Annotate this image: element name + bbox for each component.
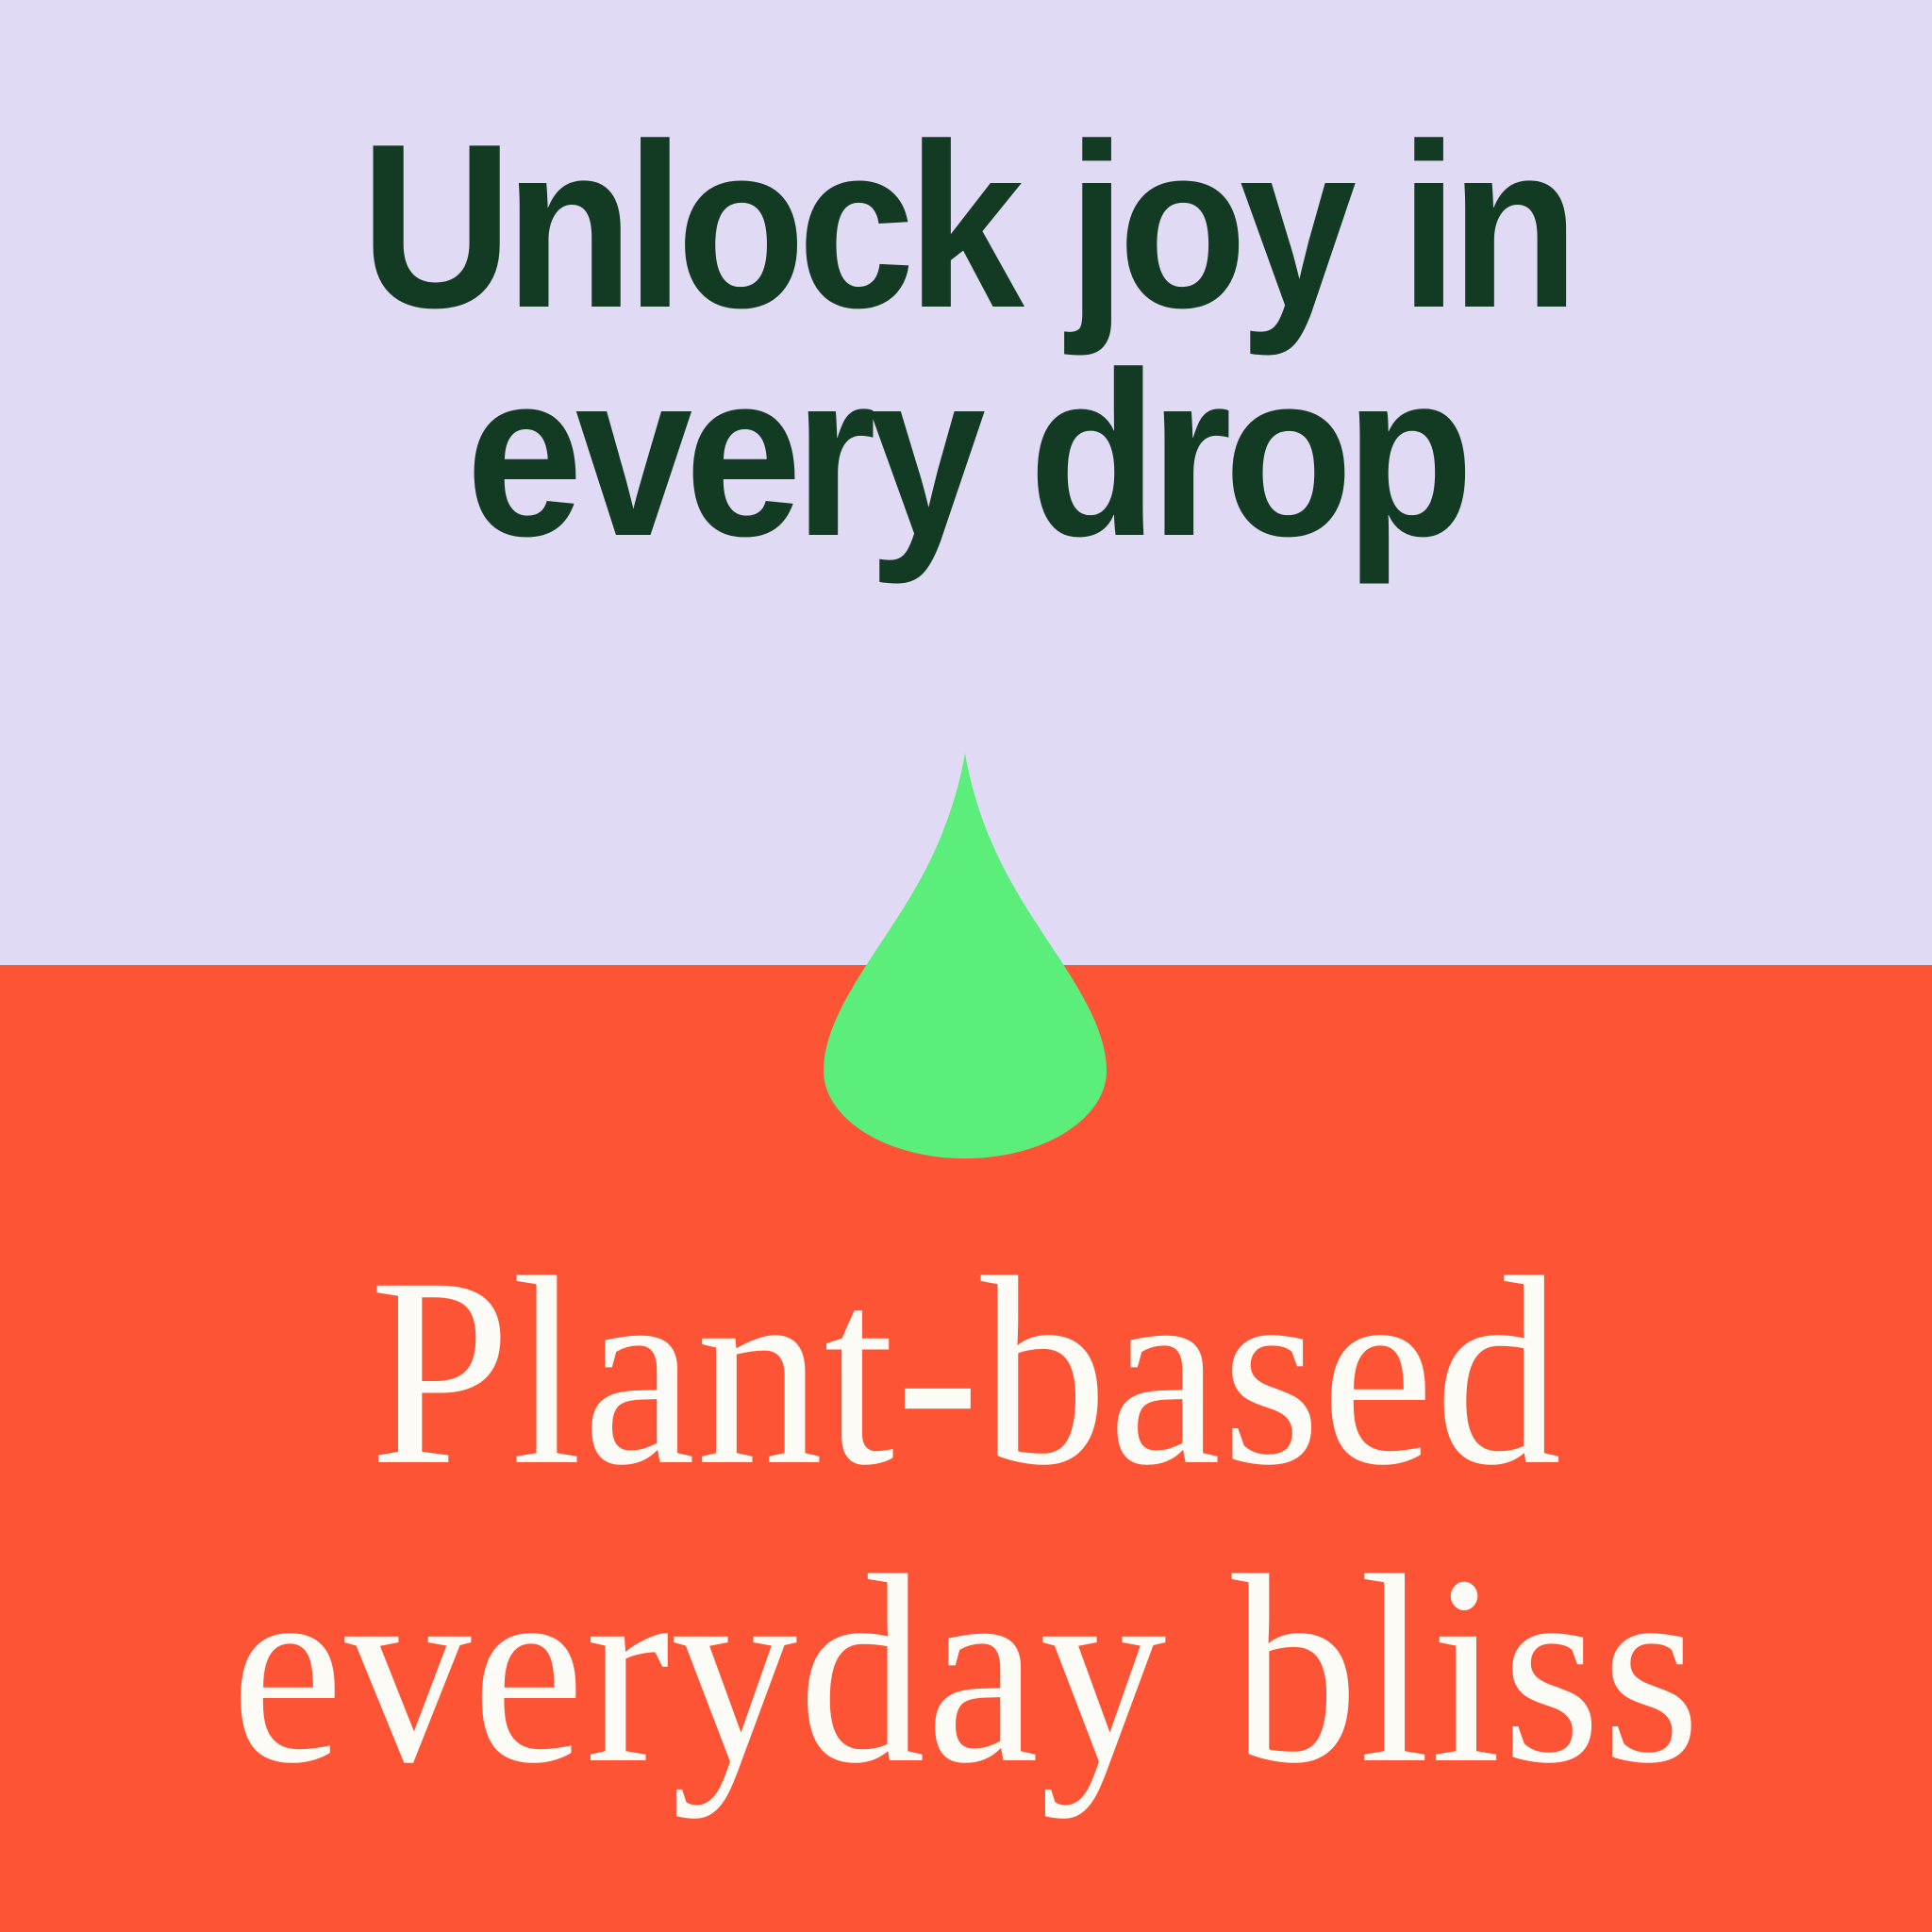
- headline-line-2: every drop: [96, 340, 1835, 568]
- poster-canvas: Unlock joy in every drop Plant-based eve…: [0, 0, 1932, 1932]
- headline: Unlock joy in every drop: [96, 111, 1835, 568]
- subheadline-line-2: everyday bliss: [58, 1521, 1874, 1819]
- headline-line-1: Unlock joy in: [96, 111, 1835, 340]
- subheadline: Plant-based everyday bliss: [58, 1223, 1874, 1819]
- water-drop-icon: [824, 753, 1107, 1158]
- subheadline-line-1: Plant-based: [58, 1223, 1874, 1521]
